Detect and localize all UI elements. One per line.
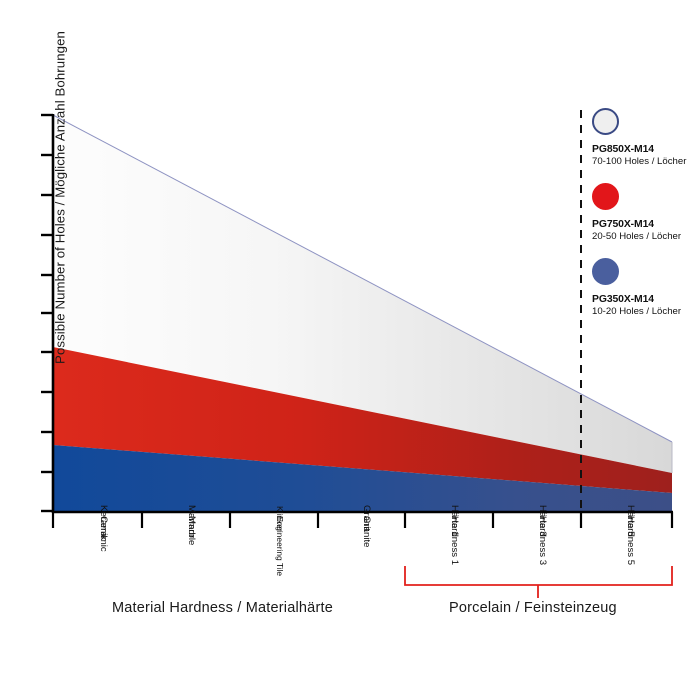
caption-porcelain: Porcelain / Feinsteinzeug	[449, 600, 617, 616]
porcelain-bracket	[405, 566, 672, 598]
legend-name-pg850x: PG850X-M14	[592, 144, 700, 155]
legend-swatch-pg850x	[592, 108, 619, 135]
y-axis-title: Possible Number of Holes / Mögliche Anza…	[53, 0, 68, 408]
x-tick-label-line2: Keramik	[98, 505, 108, 540]
legend-sub-pg750x: 20-50 Holes / Löcher	[592, 231, 700, 242]
legend-sub-pg350x: 10-20 Holes / Löcher	[592, 306, 700, 317]
legend-entry-pg850x[interactable]: PG850X-M14 70-100 Holes / Löcher	[592, 108, 700, 167]
legend-entry-pg350x[interactable]: PG350X-M14 10-20 Holes / Löcher	[592, 258, 700, 317]
legend-swatch-pg750x	[592, 183, 619, 210]
legend-entry-pg750x[interactable]: PG750X-M14 20-50 Holes / Löcher	[592, 183, 700, 242]
chart-graphic	[0, 0, 700, 700]
legend-sub-pg850x: 70-100 Holes / Löcher	[592, 156, 700, 167]
area-bands	[53, 115, 672, 512]
chart-canvas: Possible Number of Holes / Mögliche Anza…	[0, 0, 700, 700]
x-tick-label-line2: Marmor	[186, 505, 196, 538]
legend-name-pg350x: PG350X-M14	[592, 294, 700, 305]
x-tick-label-line2: Härte 1	[449, 505, 459, 536]
caption-material-hardness: Material Hardness / Materialhärte	[112, 600, 333, 616]
x-tick-label-line2: Klinker	[275, 506, 284, 532]
x-tick-label-line2: Granit	[361, 505, 371, 531]
y-ticks	[41, 115, 53, 511]
x-tick-label-line2: Härte 3	[537, 505, 547, 536]
legend-swatch-pg350x	[592, 258, 619, 285]
x-tick-label-line2: Härte 5	[625, 505, 635, 536]
legend-name-pg750x: PG750X-M14	[592, 219, 700, 230]
